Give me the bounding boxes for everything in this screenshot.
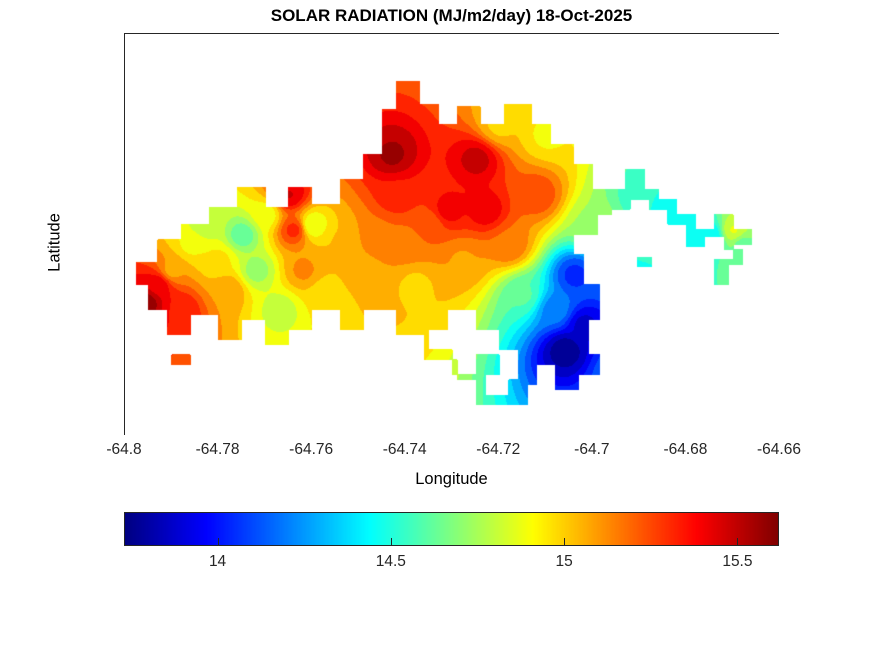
colorbar-tick-label: 14 xyxy=(209,553,226,571)
figure-container: SOLAR RADIATION (MJ/m2/day) 18-Oct-2025 … xyxy=(0,0,875,656)
colorbar-gradient xyxy=(124,512,779,546)
x-tick-label: -64.66 xyxy=(757,441,801,459)
colorbar-tick-mark xyxy=(737,538,738,545)
x-tick-label: -64.74 xyxy=(383,441,427,459)
x-tick-label: -64.8 xyxy=(106,441,141,459)
colorbar-tick-label: 14.5 xyxy=(376,553,406,571)
x-tick-label: -64.7 xyxy=(574,441,609,459)
colorbar[interactable] xyxy=(124,512,779,546)
x-axis-label: Longitude xyxy=(124,470,779,489)
map-axes xyxy=(124,33,779,434)
x-tick-label: -64.68 xyxy=(663,441,707,459)
x-tick-label: -64.78 xyxy=(196,441,240,459)
colorbar-tick-label: 15.5 xyxy=(722,553,752,571)
colorbar-tick-mark xyxy=(391,538,392,545)
colorbar-tick-mark xyxy=(564,538,565,545)
x-tick-label: -64.76 xyxy=(289,441,333,459)
colorbar-tick-label: 15 xyxy=(556,553,573,571)
x-tick-label: -64.72 xyxy=(476,441,520,459)
colorbar-tick-mark xyxy=(218,538,219,545)
solar-radiation-contour-map xyxy=(125,34,780,435)
y-axis-label: Latitude xyxy=(46,183,65,303)
chart-title: SOLAR RADIATION (MJ/m2/day) 18-Oct-2025 xyxy=(124,6,779,26)
